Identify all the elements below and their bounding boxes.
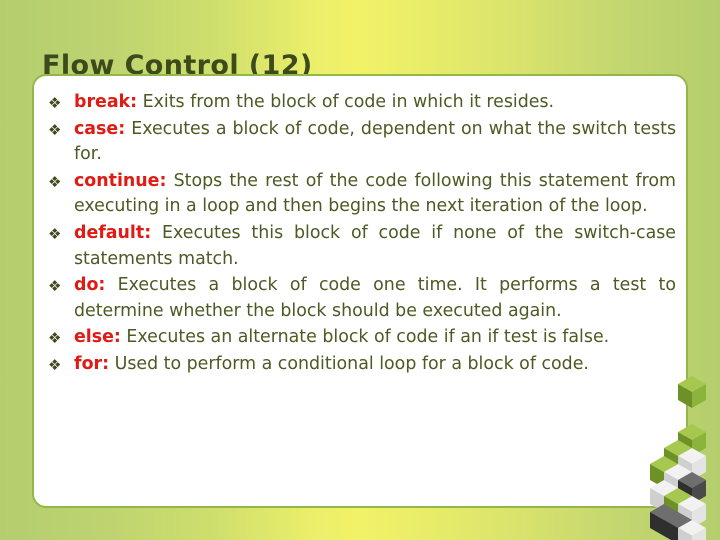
keyword-colon: :: [102, 354, 109, 374]
list-item: ❖else: Executes an alternate block of co…: [44, 325, 676, 351]
keyword-description: Executes a block of code, dependent on w…: [74, 119, 676, 165]
diamond-bullet-icon: ❖: [48, 326, 61, 352]
slide: Flow Control (12) ❖break: Exits from the…: [0, 0, 720, 540]
keyword-colon: :: [159, 171, 166, 191]
list-item: ❖for: Used to perform a conditional loop…: [44, 352, 676, 378]
keyword-colon: :: [114, 327, 121, 347]
list-item: ❖break: Exits from the block of code in …: [44, 90, 676, 116]
keyword-description: Used to perform a conditional loop for a…: [115, 354, 589, 374]
diamond-bullet-icon: ❖: [48, 274, 61, 300]
keyword-description: Exits from the block of code in which it…: [143, 92, 554, 112]
keyword-description: Executes a block of code one time. It pe…: [74, 275, 676, 321]
diamond-bullet-icon: ❖: [48, 170, 61, 196]
diamond-bullet-icon: ❖: [48, 91, 61, 117]
cube-row-e-white-right: [678, 520, 706, 540]
content-card: ❖break: Exits from the block of code in …: [32, 74, 688, 508]
diamond-bullet-icon: ❖: [48, 353, 61, 379]
cube-row-e-dark-left: [650, 504, 678, 536]
list-item: ❖continue: Stops the rest of the code fo…: [44, 169, 676, 220]
keyword-for: for: [74, 354, 102, 374]
keyword-colon: :: [98, 275, 105, 295]
diamond-bullet-icon: ❖: [48, 118, 61, 144]
keyword-description: Executes this block of code if none of t…: [74, 223, 676, 269]
list-item: ❖do: Executes a block of code one time. …: [44, 273, 676, 324]
keyword-description: Executes an alternate block of code if a…: [126, 327, 609, 347]
keyword-case: case: [74, 119, 118, 139]
diamond-bullet-icon: ❖: [48, 222, 61, 248]
list-item: ❖default: Executes this block of code if…: [44, 221, 676, 272]
keyword-colon: :: [130, 92, 137, 112]
keyword-continue: continue: [74, 171, 159, 191]
keyword-do: do: [74, 275, 98, 295]
cube-row-e-dark-mid: [664, 512, 692, 540]
keyword-colon: :: [144, 223, 151, 243]
keyword-break: break: [74, 92, 130, 112]
list-item: ❖case: Executes a block of code, depende…: [44, 117, 676, 168]
keyword-default: default: [74, 223, 144, 243]
keyword-else: else: [74, 327, 114, 347]
flow-control-keyword-list: ❖break: Exits from the block of code in …: [44, 90, 676, 378]
keyword-colon: :: [118, 119, 125, 139]
